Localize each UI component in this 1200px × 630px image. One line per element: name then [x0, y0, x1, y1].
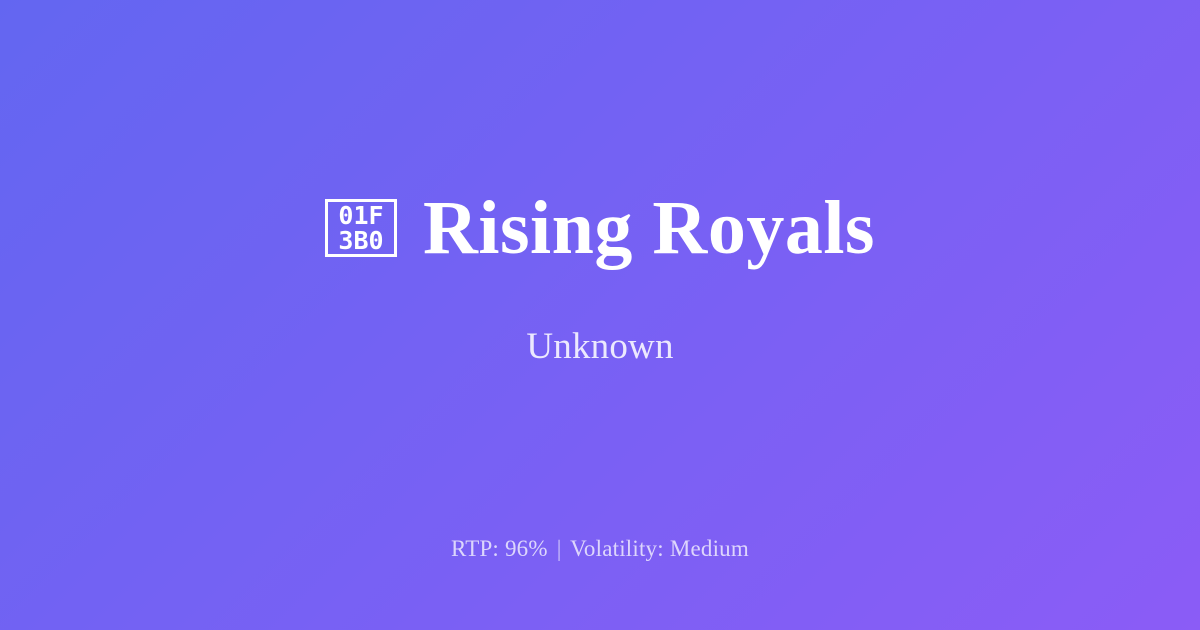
meta-footer: RTP: 96% | Volatility: Medium: [0, 537, 1200, 560]
hero-block: 01F 3B0 Rising Royals Unknown: [0, 190, 1200, 365]
page-title: Rising Royals: [423, 190, 875, 266]
slot-machine-icon: 01F 3B0: [325, 199, 397, 257]
volatility-value: Medium: [670, 536, 749, 561]
tofu-codepoint-top: 01F: [338, 203, 383, 228]
meta-separator: |: [554, 536, 565, 561]
rtp-value: 96%: [505, 536, 548, 561]
rtp-label: RTP:: [451, 536, 499, 561]
volatility-label: Volatility:: [570, 536, 664, 561]
tofu-codepoint-bottom: 3B0: [338, 228, 383, 253]
provider-label: Unknown: [526, 328, 673, 365]
og-share-card: 01F 3B0 Rising Royals Unknown RTP: 96% |…: [0, 0, 1200, 630]
title-row: 01F 3B0 Rising Royals: [325, 190, 875, 266]
